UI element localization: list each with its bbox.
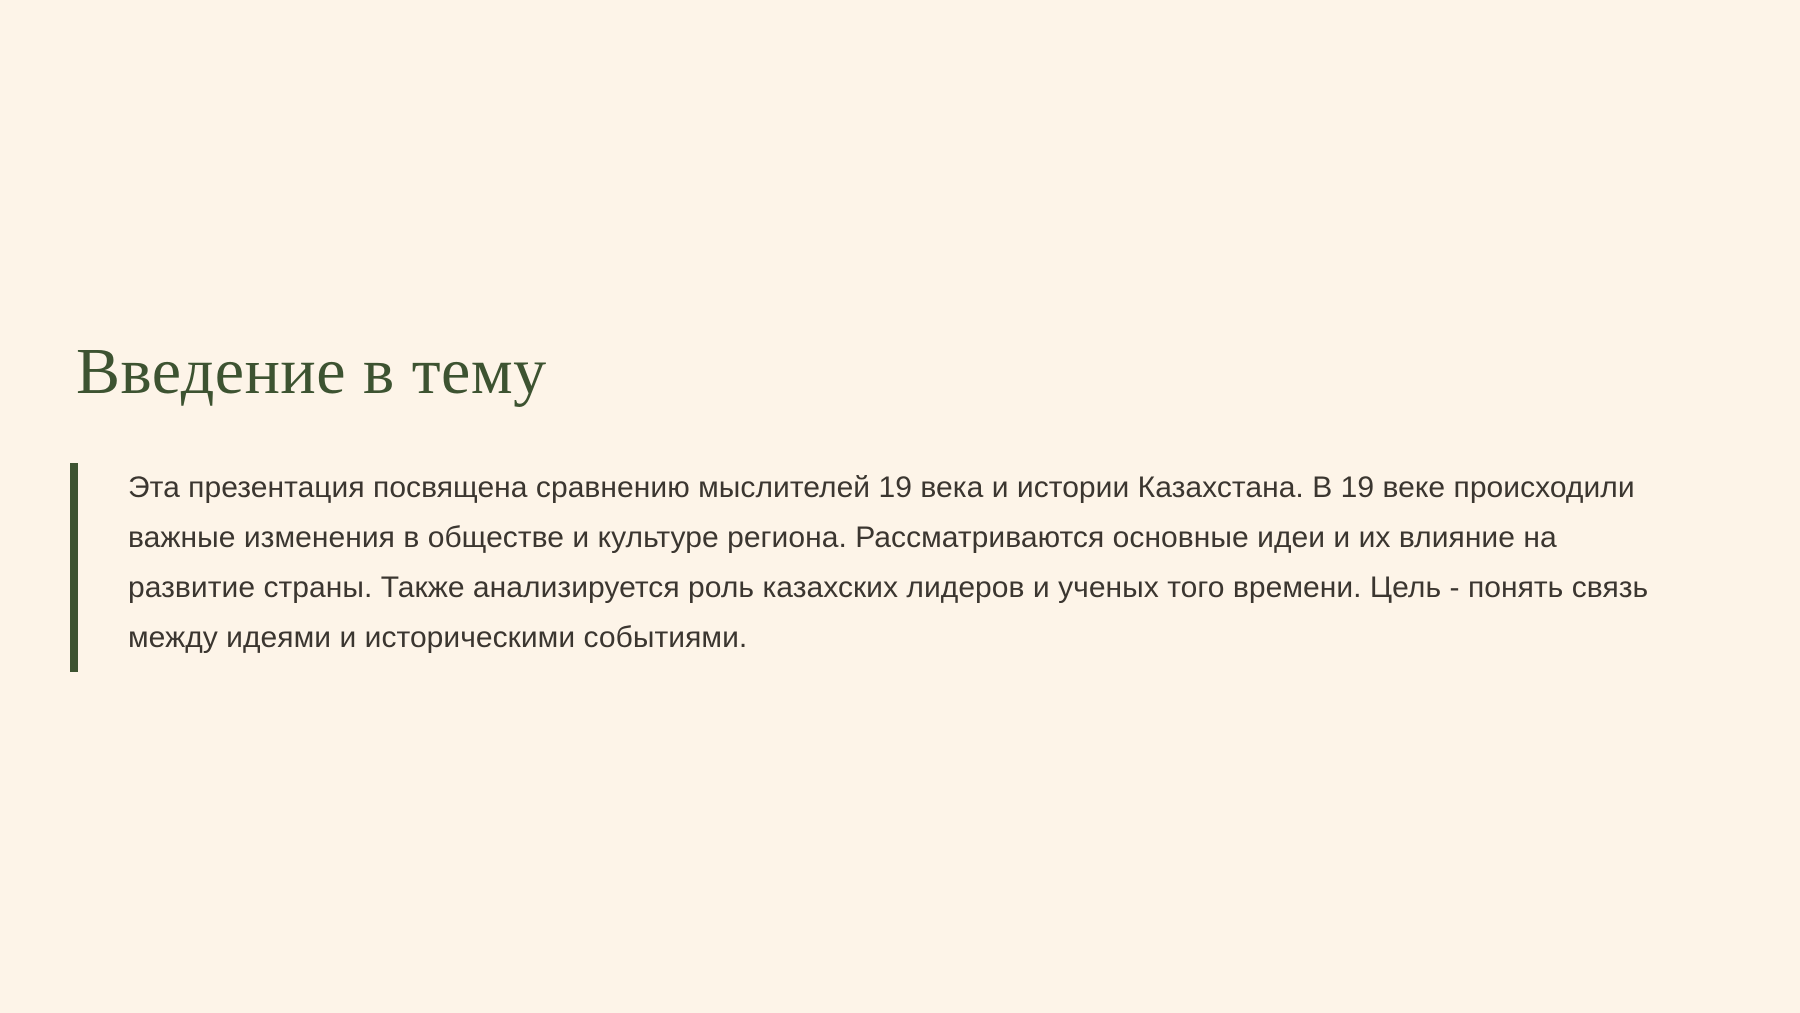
accent-bar [70,463,78,672]
body-quote-block: Эта презентация посвящена сравнению мысл… [70,463,1710,672]
slide-title: Введение в тему [76,337,547,406]
presentation-slide: Введение в тему Эта презентация посвящен… [0,0,1800,1013]
body-text-container: Эта презентация посвящена сравнению мысл… [78,463,1710,672]
slide-body-text: Эта презентация посвящена сравнению мысл… [128,463,1658,663]
